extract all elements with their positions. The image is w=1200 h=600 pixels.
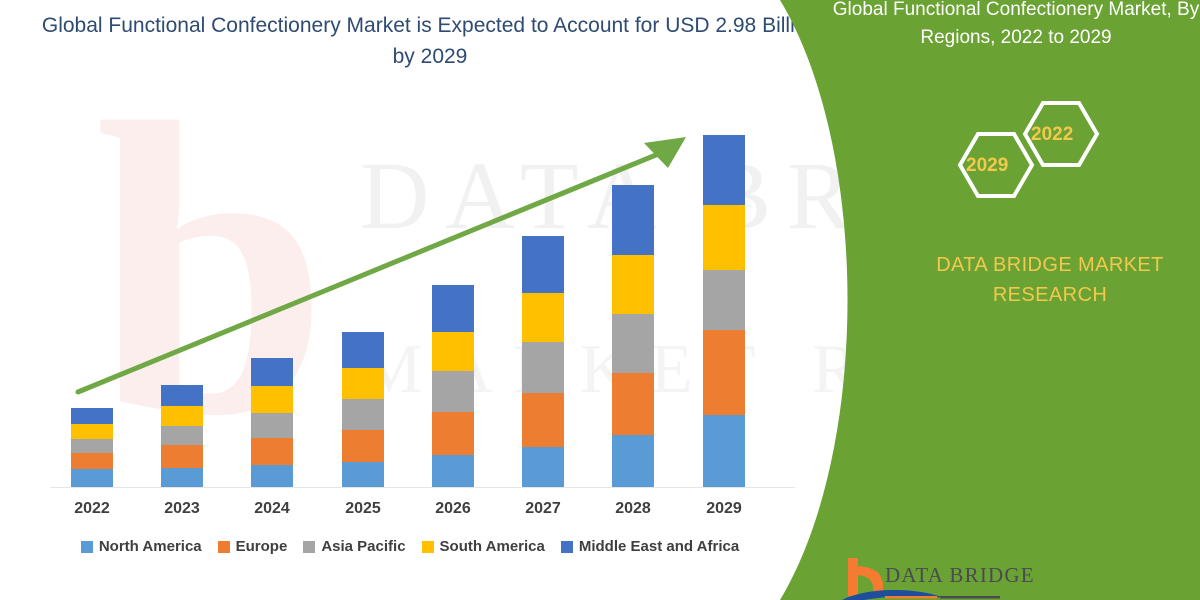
legend-label: North America [99, 538, 202, 555]
legend-swatch-icon [422, 541, 434, 553]
hexagon-label-2029: 2029 [966, 155, 1008, 177]
logo-text: DATA BRIDGE [885, 563, 1035, 588]
bar-chart-plot-area: 20222023202420252026202720282029 [0, 0, 840, 600]
legend-label: Asia Pacific [321, 538, 405, 555]
hexagon-label-2022: 2022 [1031, 124, 1073, 146]
legend-swatch-icon [561, 541, 573, 553]
legend-label: Middle East and Africa [579, 538, 739, 555]
chart-legend: North AmericaEuropeAsia PacificSouth Ame… [0, 538, 820, 555]
brand-name: DATA BRIDGE MARKET RESEARCH [900, 250, 1200, 310]
panel-title: Global Functional Confectionery Market, … [832, 0, 1200, 52]
legend-item-north-america[interactable]: North America [81, 538, 202, 555]
brand-line-1: DATA BRIDGE MARKET [900, 250, 1200, 280]
legend-swatch-icon [303, 541, 315, 553]
brand-line-2: RESEARCH [900, 280, 1200, 310]
legend-item-asia-pacific[interactable]: Asia Pacific [303, 538, 405, 555]
legend-item-middle-east-and-africa[interactable]: Middle East and Africa [561, 538, 739, 555]
legend-swatch-icon [81, 541, 93, 553]
infographic-canvas: b DATA BRIDGE MARKET RESEARCH Global Fun… [0, 0, 1200, 600]
legend-label: Europe [236, 538, 288, 555]
hexagon-outlines-icon [930, 100, 1130, 230]
legend-item-south-america[interactable]: South America [422, 538, 545, 555]
growth-arrow-icon [0, 0, 840, 600]
legend-swatch-icon [218, 541, 230, 553]
legend-label: South America [440, 538, 545, 555]
hexagon-pair: 2029 2022 [930, 100, 1130, 230]
legend-item-europe[interactable]: Europe [218, 538, 288, 555]
